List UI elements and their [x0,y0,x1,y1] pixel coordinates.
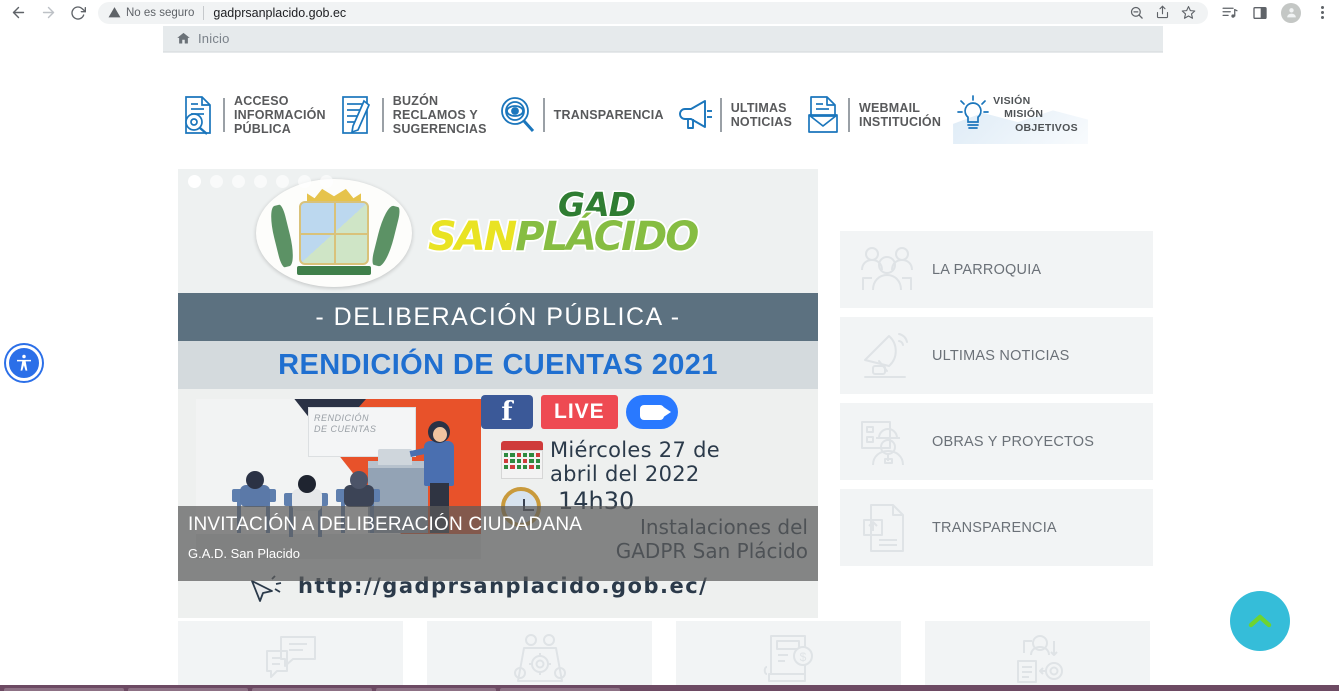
sidebar-card-transparencia[interactable]: TRANSPARENCIA [840,489,1153,566]
bottom-card-rendicion-de-cuentas[interactable]: $ RENDICION DE CUENTAS [676,621,901,691]
url-text: gadprsanplacido.gob.ec [213,6,346,20]
quick-access-divider [848,98,850,132]
browser-toolbar: No es seguro gadprsanplacido.gob.ec [0,0,1339,26]
sidebar-card-label: LA PARROQUIA [932,262,1041,278]
banner-line-1: - DELIBERACIÓN PÚBLICA - [315,303,680,332]
omnibox-actions [1129,5,1198,20]
quick-access-divider [543,98,545,132]
quick-access-webmail-institucion[interactable]: WEBMAIL INSTITUCIÓN [802,92,941,138]
gad-logo: GAD SANPLÁCIDO [428,185,728,260]
illustration-screen-text: RENDICIÓN DE CUENTAS [314,413,376,436]
sidebar-card-label: ULTIMAS NOTICIAS [932,348,1069,364]
quick-access-transparencia[interactable]: TRANSPARENCIA [497,92,664,138]
svg-text:$: $ [799,650,806,664]
carousel-dot[interactable] [320,175,333,188]
share-icon[interactable] [1155,5,1170,20]
live-badge: LIVE [541,395,618,429]
quick-access-vision-mision-objetivos[interactable]: VISIÓN MISIÓN OBJETIVOS [953,92,1078,138]
illustration-speaker-face [433,427,447,442]
quick-access-label: ULTIMAS NOTICIAS [731,101,792,129]
logo-sanplacido-text: SANPLÁCIDO [428,214,728,260]
sidebar-card-obras-y-proyectos[interactable]: OBRAS Y PROYECTOS [840,403,1153,480]
sidebar-cards: LA PARROQUIA ULTIMAS NOTICIAS [840,231,1153,575]
quick-access-ultimas-noticias[interactable]: ULTIMAS NOTICIAS [674,92,792,138]
bottom-card-pdot[interactable]: PDOT [427,621,652,691]
reload-button[interactable] [64,1,92,25]
document-upload-icon [856,499,918,557]
slide-banner-rendicion: RENDICIÓN DE CUENTAS 2021 [178,341,818,389]
address-bar[interactable]: No es seguro gadprsanplacido.gob.ec [98,2,1208,24]
carousel-dots[interactable] [188,175,333,188]
carousel-dot[interactable] [254,175,267,188]
community-people-icon [856,241,918,299]
browser-actions [1216,1,1339,25]
security-indicator[interactable]: No es seguro [108,6,194,19]
carousel-dot[interactable] [210,175,223,188]
bottom-cards: GESTIÓN INSTITUCIONAL PDOT [178,621,1153,691]
zoom-out-icon[interactable] [1129,5,1144,20]
carousel-dot[interactable] [298,175,311,188]
carousel-dot[interactable] [188,175,201,188]
vision-mision-objetivos-text: VISIÓN MISIÓN OBJETIVOS [993,95,1078,134]
quick-access-label: WEBMAIL INSTITUCIÓN [859,101,941,129]
sidebar-card-label: TRANSPARENCIA [932,520,1057,536]
avatar [1281,3,1301,23]
meeting-gear-icon [509,630,571,688]
profile-avatar-icon[interactable] [1278,1,1304,25]
caption-subtitle: G.A.D. San Placido [188,546,818,561]
event-date: Miércoles 27 de abril del 2022 [550,438,805,487]
kebab-dots [1321,6,1324,19]
crest-laurel-right [371,204,402,268]
sidebar-card-ultimas-noticias[interactable]: ULTIMAS NOTICIAS [840,317,1153,394]
quick-access-strip: ACCESO INFORMACIÓN PÚBLICA BUZÓN RECLAMO… [163,74,1163,156]
chat-bubbles-icon [260,630,322,688]
omnibox-divider [203,6,204,20]
crest-base [297,266,371,275]
lightbulb-icon [953,92,993,138]
breadcrumb[interactable]: Inicio [163,26,1163,52]
back-button[interactable] [4,1,32,25]
side-panel-icon[interactable] [1247,1,1273,25]
site-content: Inicio ACCESO INFORMACIÓN PÚBLICA [163,26,1163,685]
san-placido-coat-of-arms [256,179,412,287]
quick-access-divider [720,98,722,132]
chrome-menu-icon[interactable] [1309,1,1335,25]
mision-line: MISIÓN [993,108,1078,121]
live-badges: f LIVE [481,395,678,429]
facebook-icon[interactable]: f [481,395,533,429]
quick-access-label: BUZÓN RECLAMOS Y SUGERENCIAS [393,94,487,136]
quick-access-divider [382,98,384,132]
carousel-caption: INVITACIÓN A DELIBERACIÓN CIUDADANA G.A.… [178,506,818,581]
envelope-document-icon [802,92,844,138]
accessibility-person-icon [14,353,34,373]
os-taskbar [0,685,1339,691]
slide-body: RENDICIÓN DE CUENTAS [178,389,818,618]
engineer-worker-icon [856,413,918,471]
logo-placido-text: PLÁCIDO [515,214,697,260]
page-viewport: Inicio ACCESO INFORMACIÓN PÚBLICA [0,26,1339,691]
quick-access-label: ACCESO INFORMACIÓN PÚBLICA [234,94,326,136]
objetivos-line: OBJETIVOS [993,122,1078,135]
sidebar-card-label: OBRAS Y PROYECTOS [932,434,1094,450]
calendar-icon [501,441,543,479]
warning-triangle-icon [108,6,121,19]
scroll-to-top-button[interactable] [1230,591,1290,651]
calendar-grid [504,453,540,469]
quick-access-divider [223,98,225,132]
illustration-speaker-body [424,441,454,486]
vision-line: VISIÓN [993,95,1078,108]
video-camera-icon [626,395,678,429]
slide-banner-deliberacion: - DELIBERACIÓN PÚBLICA - [178,293,818,341]
crest-laurel-left [267,204,298,268]
reading-list-icon[interactable] [1216,1,1242,25]
hero-carousel[interactable]: GAD SANPLÁCIDO - DELIBERACIÓN PÚBLICA - … [178,169,818,618]
bookmark-star-icon[interactable] [1181,5,1196,20]
megaphone-icon [674,92,716,138]
navigation-buttons [0,1,92,25]
illustration-laptop [378,449,412,465]
eye-magnifier-icon [497,92,539,138]
banner-line-2: RENDICIÓN DE CUENTAS 2021 [278,349,718,382]
sidebar-card-la-parroquia[interactable]: LA PARROQUIA [840,231,1153,308]
quick-access-label: TRANSPARENCIA [554,108,664,122]
chevron-up-icon [1248,613,1272,629]
invoice-money-icon: $ [758,630,820,688]
security-label: No es seguro [126,7,194,19]
accessibility-widget-button[interactable] [6,345,42,381]
caption-title: INVITACIÓN A DELIBERACIÓN CIUDADANA [188,514,818,536]
workflow-person-gear-icon [1007,630,1069,688]
satellite-dish-icon [856,327,918,385]
forward-button[interactable] [34,1,62,25]
quick-access-buzon-reclamos-sugerencias[interactable]: BUZÓN RECLAMOS Y SUGERENCIAS [336,92,487,138]
document-pen-icon [336,92,378,138]
document-magnifier-icon [177,92,219,138]
logo-san-text: SAN [428,214,515,260]
bottom-card-gestion-institucional[interactable]: GESTIÓN INSTITUCIONAL [178,621,403,691]
quick-access-acceso-informacion-publica[interactable]: ACCESO INFORMACIÓN PÚBLICA [177,92,326,138]
crest-shield [299,201,369,265]
breadcrumb-label: Inicio [198,31,230,46]
carousel-dot[interactable] [276,175,289,188]
bottom-card-poa[interactable]: POA [925,621,1150,691]
home-icon [176,31,191,46]
carousel-dot[interactable] [232,175,245,188]
